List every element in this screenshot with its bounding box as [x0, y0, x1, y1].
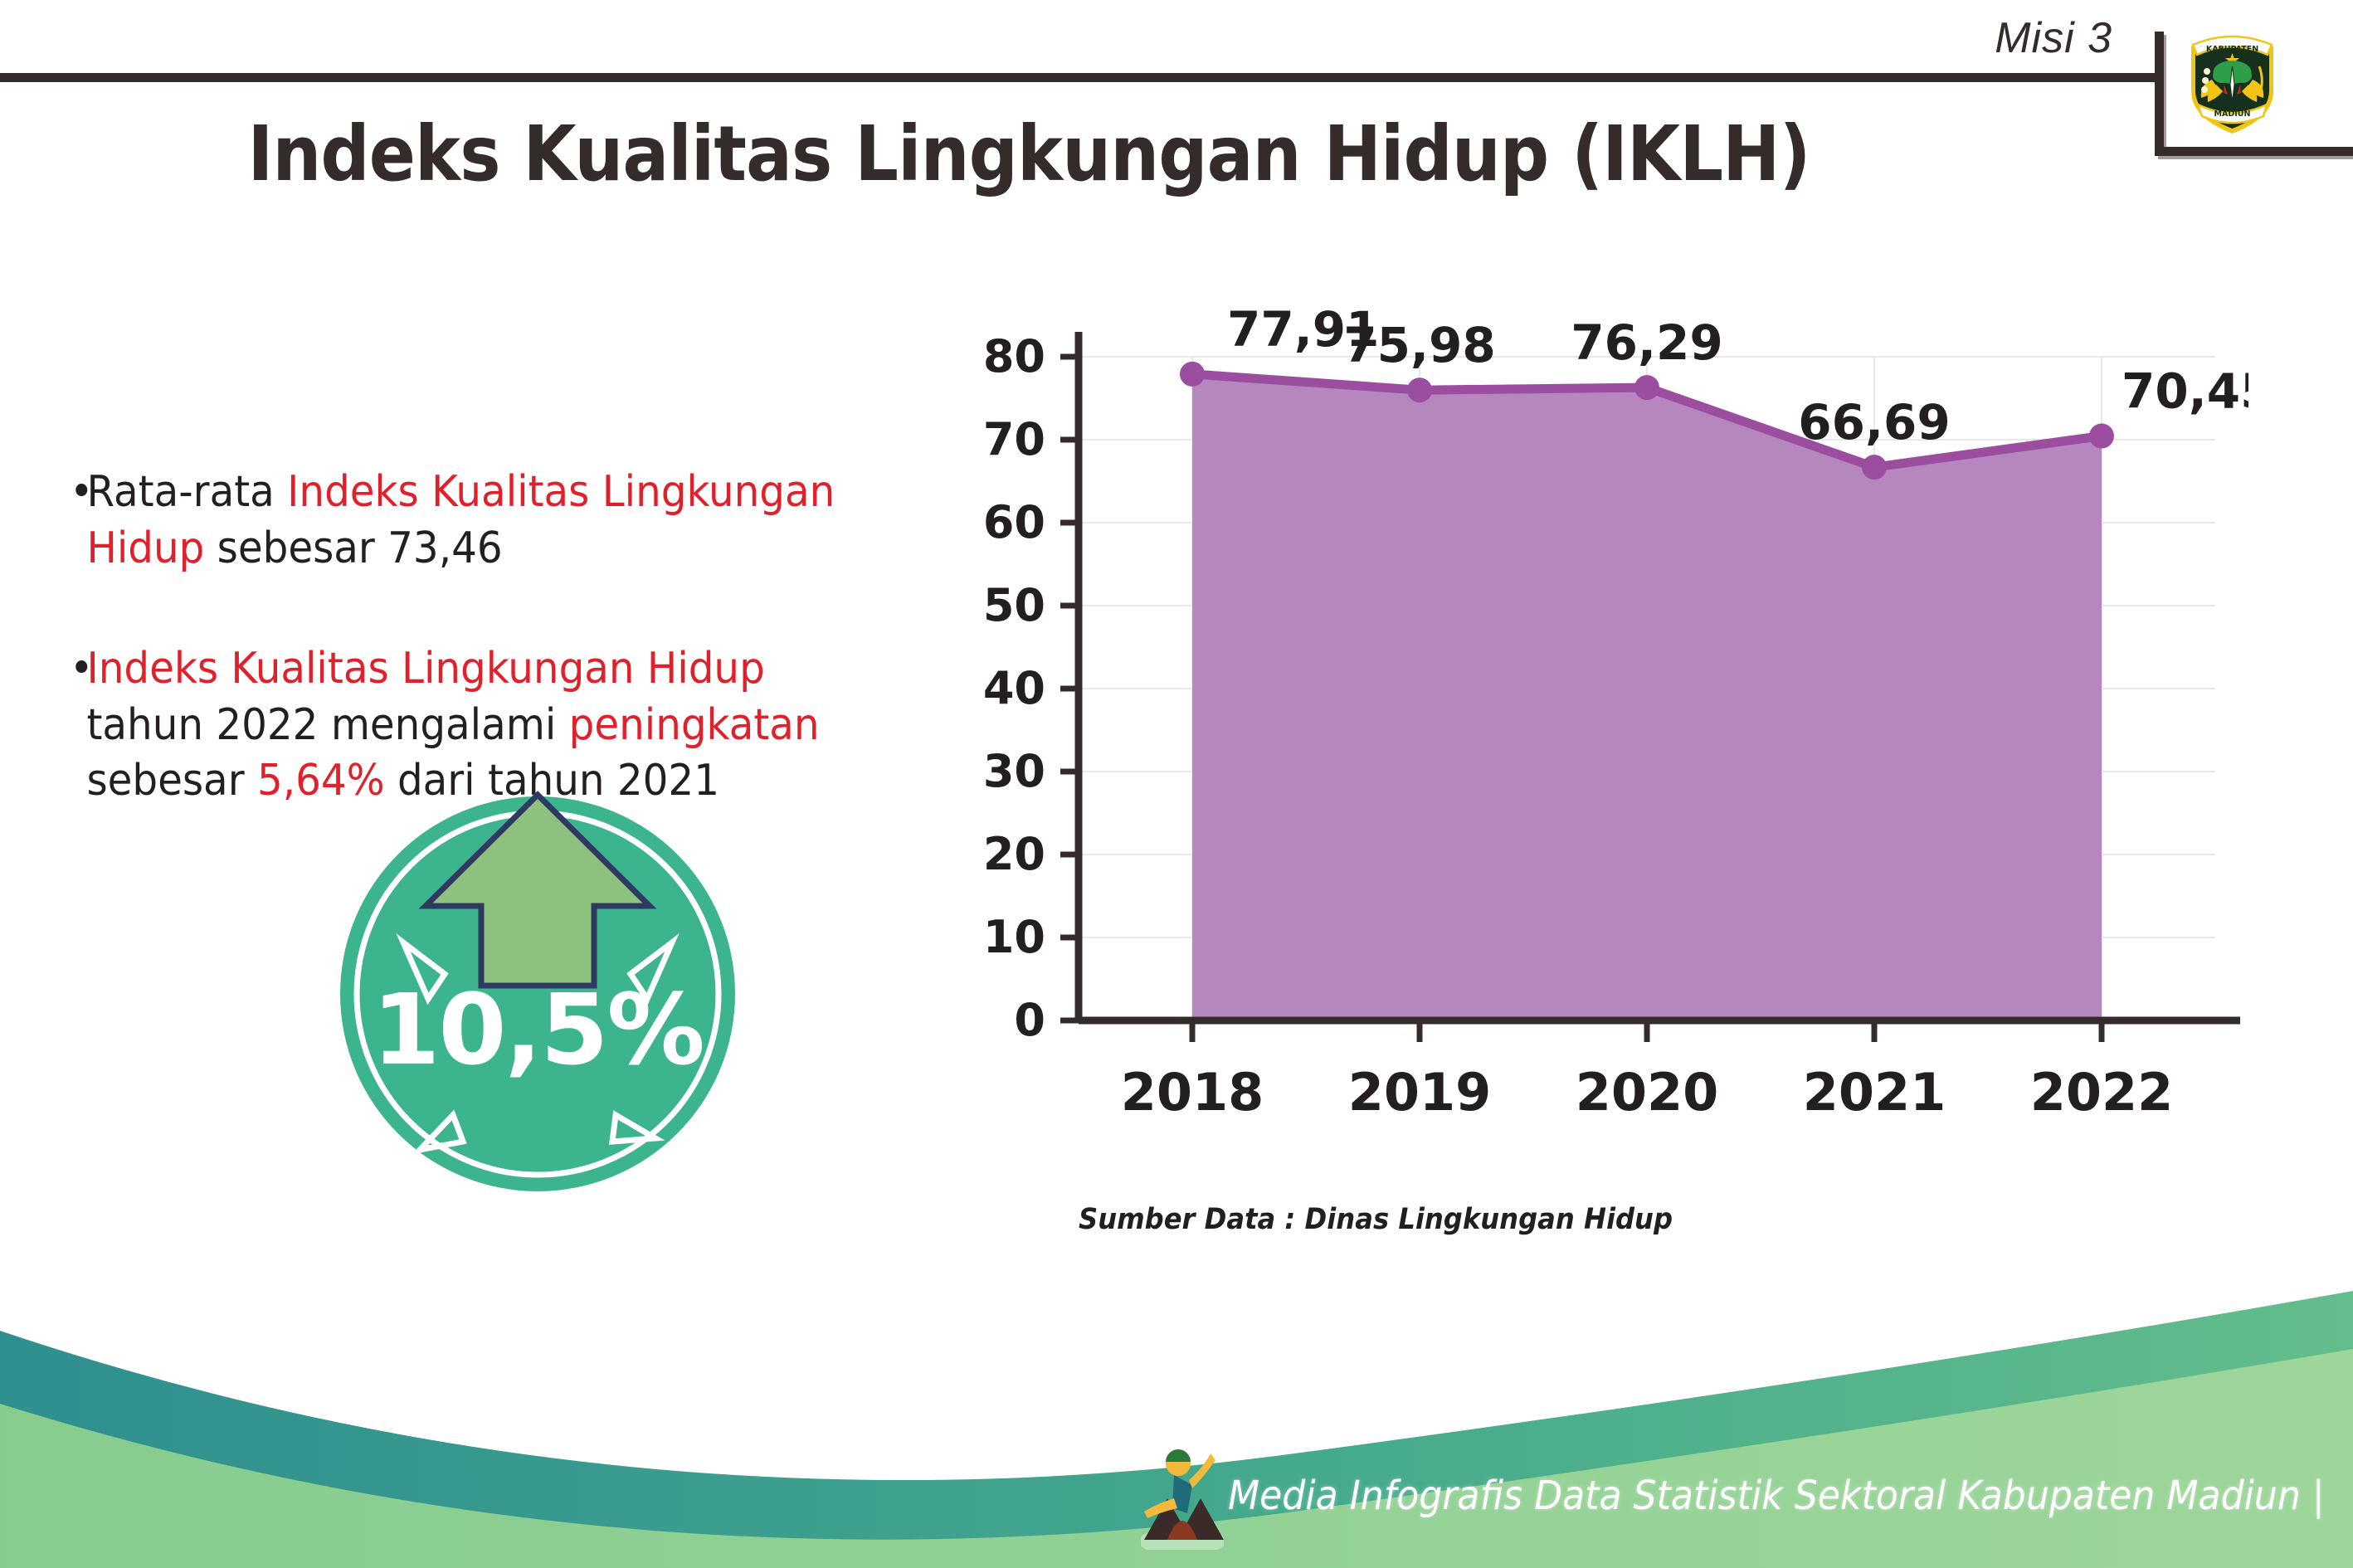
bullet-item: •Rata-rata Indeks Kualitas Lingkungan Hi…: [70, 465, 888, 577]
summary-bullet-list: •Rata-rata Indeks Kualitas Lingkungan Hi…: [70, 465, 949, 810]
bullet-marker-icon: •: [70, 465, 86, 521]
y-tick-label: 60: [983, 496, 1045, 548]
badge-value-label: 10,5%: [330, 972, 745, 1087]
crest-top-label: KABUPATEN: [2206, 45, 2258, 54]
bracket-horizontal-bar: [2155, 147, 2353, 156]
y-tick-label: 40: [983, 662, 1045, 714]
data-point-marker: [1634, 375, 1659, 400]
y-tick-label: 0: [1014, 994, 1045, 1046]
crest-bottom-label: MADIUN: [2214, 110, 2251, 119]
chart-source-note: Sumber Data : Dinas Lingkungan Hidup: [1079, 1203, 1673, 1236]
increase-badge: 10,5%: [330, 763, 745, 1195]
bullet-marker-icon: •: [70, 641, 86, 698]
chart-x-tick-labels: 20182019202020212022: [1121, 1062, 2174, 1122]
data-point-marker: [1180, 362, 1205, 387]
mission-label: Misi 3: [1995, 13, 2112, 63]
bracket-vertical-bar: [2155, 32, 2164, 154]
y-tick-label: 10: [983, 911, 1045, 963]
chart-y-tick-labels: 01020304050607080: [983, 330, 1045, 1046]
y-tick-label: 80: [983, 330, 1045, 382]
bullet-plain-text: sebesar: [86, 756, 256, 806]
area-series-fill: [1192, 374, 2102, 1020]
bullet-plain-text: tahun 2022 mengalami: [86, 700, 568, 750]
x-tick-label: 2022: [2030, 1062, 2174, 1122]
bullet-plain-text: sebesar 73,46: [204, 523, 502, 573]
iklh-area-chart: 01020304050607080 20182019202020212022 7…: [954, 290, 2248, 1236]
data-value-label: 76,29: [1571, 314, 1722, 371]
kabupaten-madiun-crest-logo: KABUPATEN MADIUN: [2185, 25, 2280, 137]
data-value-label: 66,69: [1798, 394, 1950, 450]
header-divider-rule: [0, 73, 2157, 82]
data-value-label: 75,98: [1343, 317, 1495, 373]
page-title: Indeks Kualitas Lingkungan Hidup (IKLH): [103, 110, 1955, 198]
x-tick-label: 2018: [1121, 1062, 1264, 1122]
bullet-highlight-text: peningkatan: [569, 700, 820, 750]
data-point-marker: [1862, 455, 1887, 480]
data-point-marker: [2089, 424, 2114, 449]
data-point-marker: [1407, 377, 1432, 402]
footer-caption: Media Infografis Data Statistik Sektoral…: [1228, 1473, 2325, 1519]
footer-banner: Media Infografis Data Statistik Sektoral…: [0, 1269, 2353, 1568]
media-infografis-figure-logo: [1141, 1442, 1224, 1550]
x-tick-label: 2020: [1576, 1062, 1719, 1122]
bullet-highlight-text: Indeks Kualitas Lingkungan Hidup: [86, 644, 764, 694]
x-tick-label: 2021: [1803, 1062, 1946, 1122]
y-tick-label: 20: [983, 828, 1045, 880]
chart-area-fill: [1192, 374, 2102, 1020]
bullet-text: Rata-rata Indeks Kualitas Lingkungan Hid…: [86, 465, 887, 577]
data-value-label: 70,45: [2122, 363, 2248, 420]
y-tick-label: 70: [983, 413, 1045, 465]
y-tick-label: 30: [983, 745, 1045, 797]
bullet-plain-text: Rata-rata: [86, 467, 287, 517]
x-tick-label: 2019: [1348, 1062, 1492, 1122]
y-tick-label: 50: [983, 579, 1045, 631]
